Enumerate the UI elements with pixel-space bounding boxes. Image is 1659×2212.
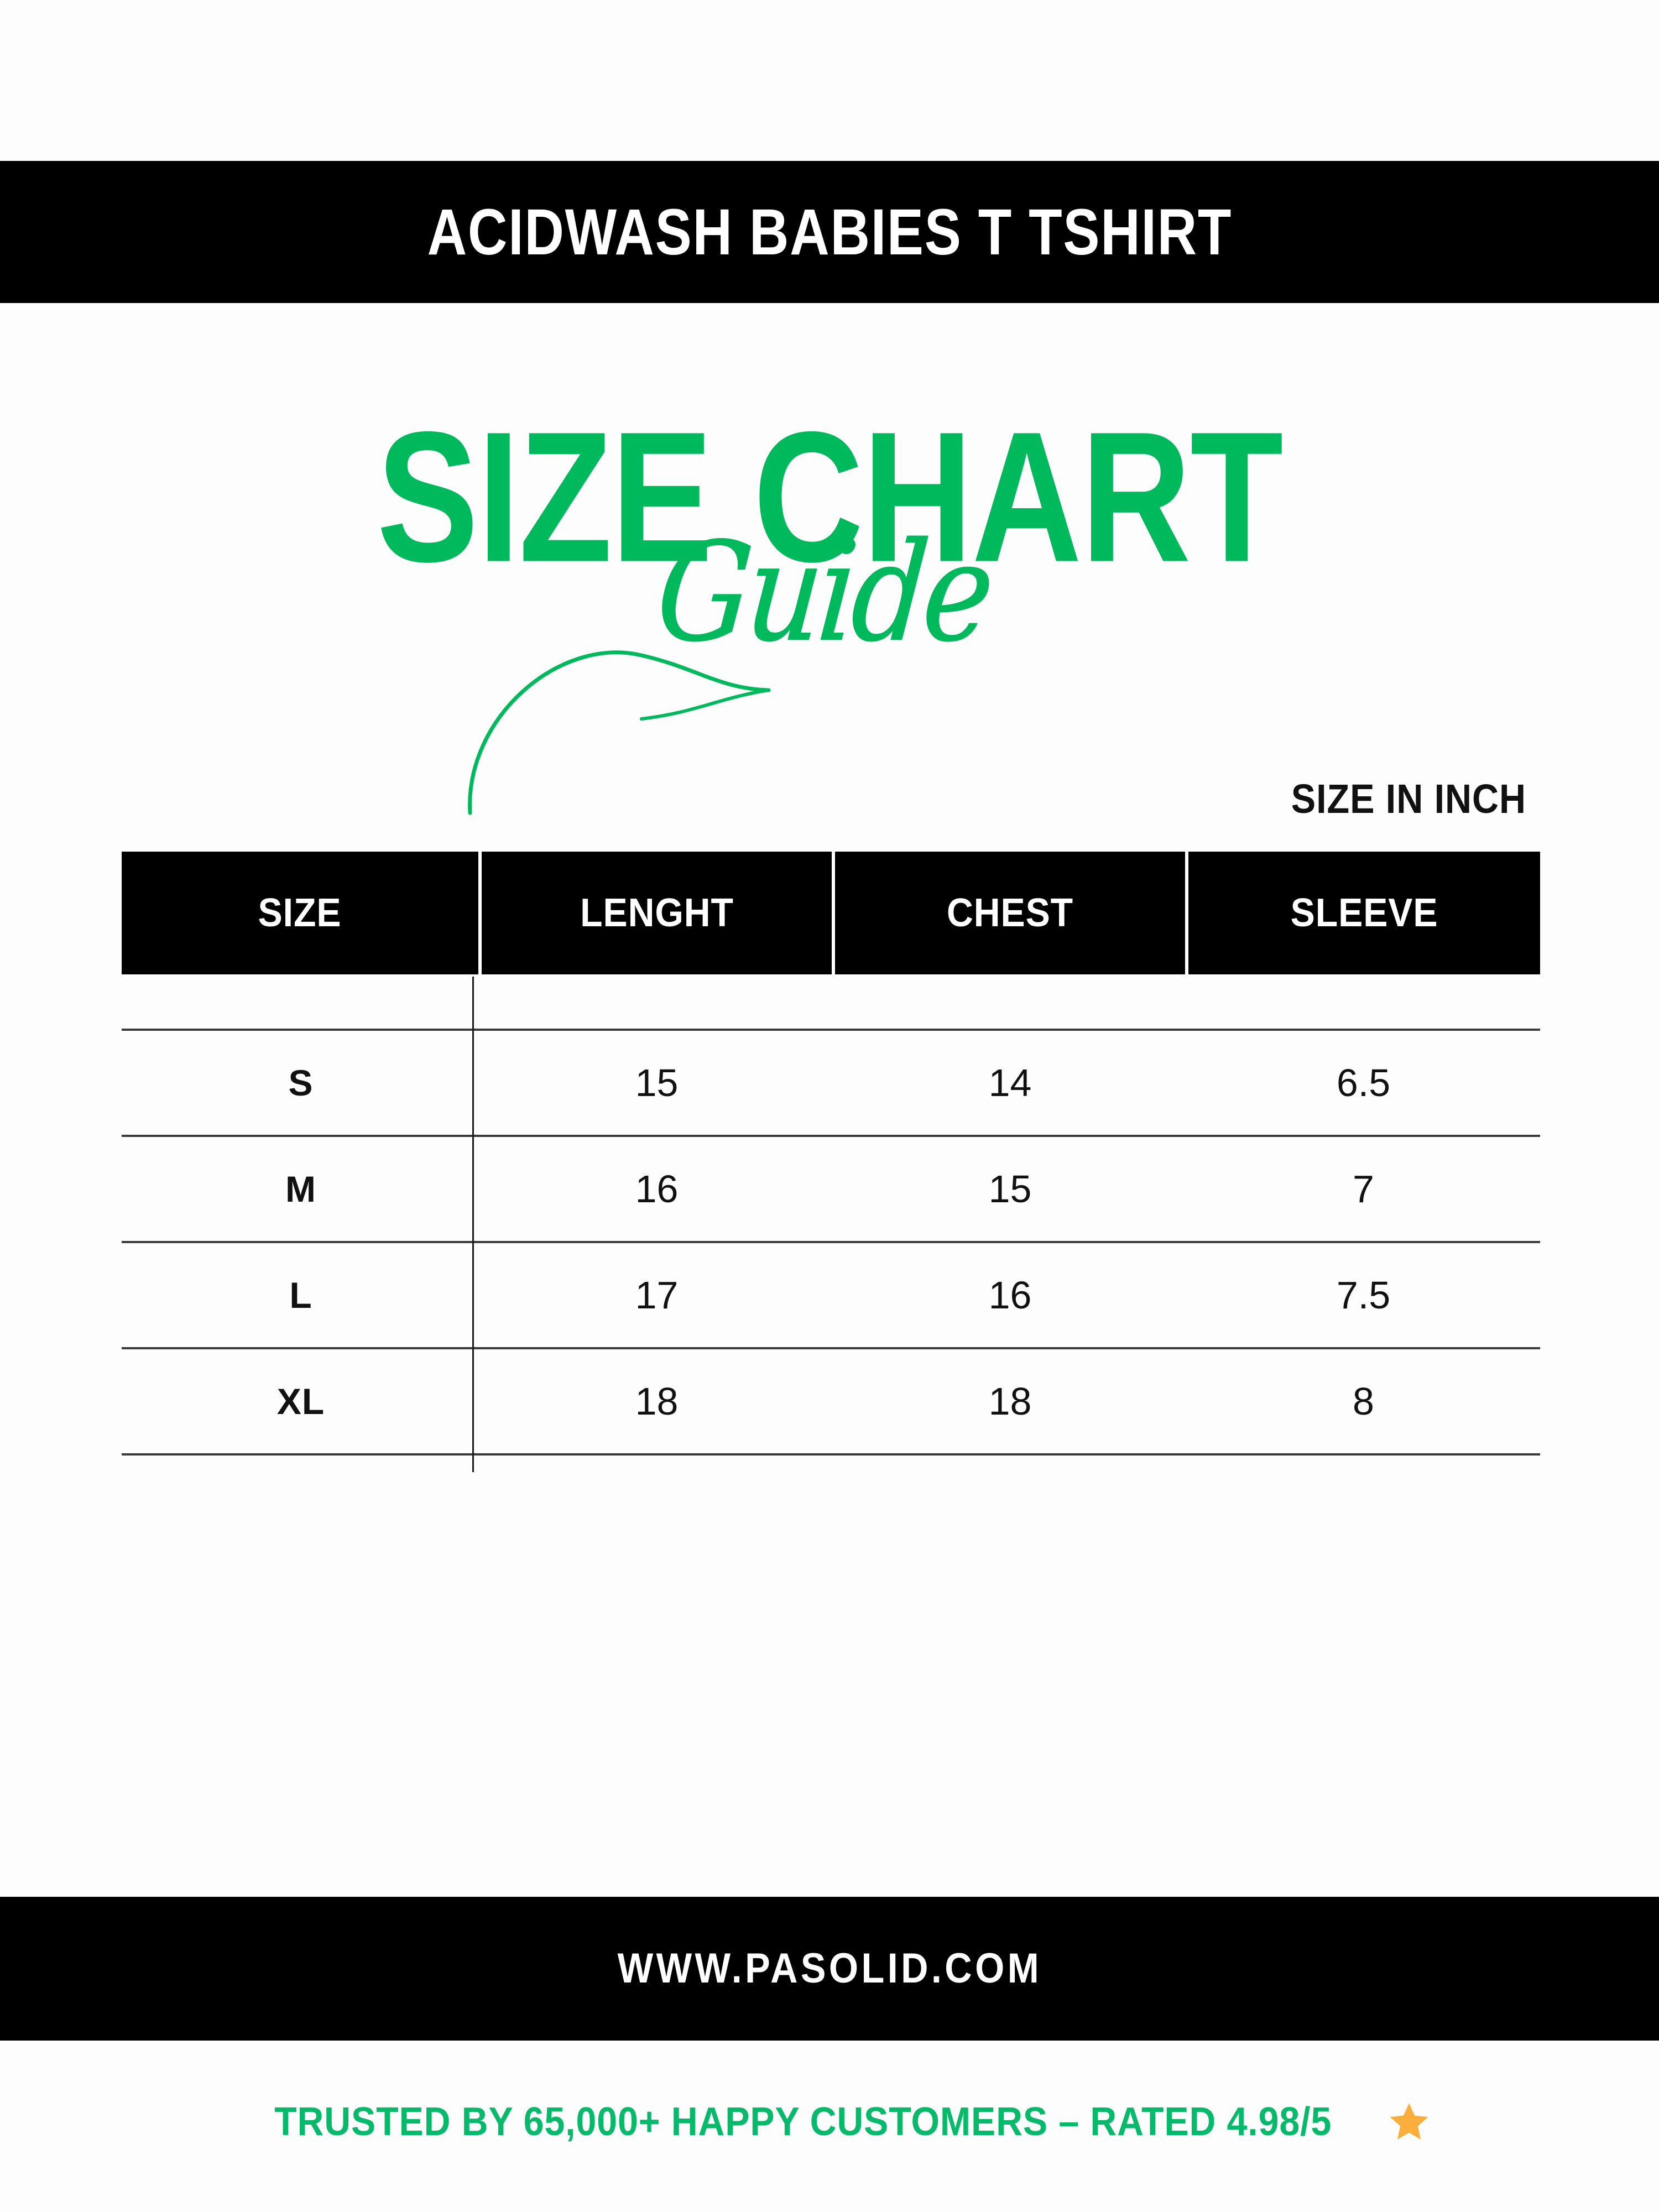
column-header-sleeve-label: SLEEVE [1291, 890, 1438, 936]
table-row: XL 18 18 8 [122, 1348, 1540, 1454]
logo-script-word: Guide [0, 524, 1659, 661]
column-header-lenght: LENGHT [480, 852, 833, 974]
table-spacer-row [122, 974, 1540, 1030]
size-chart-table: SIZE LENGHT CHEST SLEEVE S 15 14 6. [122, 852, 1540, 1455]
table-header-row: SIZE LENGHT CHEST SLEEVE [122, 852, 1540, 974]
cell-chest: 18 [833, 1348, 1187, 1454]
spacer-cell [122, 974, 480, 1030]
cell-chest: 15 [833, 1136, 1187, 1242]
column-header-sleeve: SLEEVE [1187, 852, 1540, 974]
table-vertical-rule [472, 977, 474, 1472]
column-header-size-label: SIZE [258, 890, 342, 936]
column-header-size: SIZE [122, 852, 480, 974]
page-title: ACIDWASH BABIES T TSHIRT [427, 200, 1232, 265]
size-chart-logo: SIZE CHART Guide [0, 387, 1659, 719]
trust-badge-text: TRUSTED BY 65,000+ HAPPY CUSTOMERS – RAT… [274, 2102, 1332, 2142]
cell-size: XL [122, 1348, 480, 1454]
cell-lenght: 15 [480, 1030, 833, 1136]
cell-lenght: 18 [480, 1348, 833, 1454]
cell-sleeve: 6.5 [1187, 1030, 1540, 1136]
cell-sleeve: 7 [1187, 1136, 1540, 1242]
table-row: S 15 14 6.5 [122, 1030, 1540, 1136]
size-chart-table-wrapper: SIZE LENGHT CHEST SLEEVE S 15 14 6. [122, 852, 1540, 1455]
cell-size: L [122, 1242, 480, 1348]
cell-chest: 16 [833, 1242, 1187, 1348]
website-url[interactable]: WWW.PASOLID.COM [617, 1948, 1041, 1990]
table-row: M 16 15 7 [122, 1136, 1540, 1242]
cell-lenght: 16 [480, 1136, 833, 1242]
cell-chest: 14 [833, 1030, 1187, 1136]
column-header-chest: CHEST [833, 852, 1187, 974]
unit-label: SIZE IN INCH [153, 779, 1526, 820]
spacer-cell [1187, 974, 1540, 1030]
table-row: L 17 16 7.5 [122, 1242, 1540, 1348]
column-header-chest-label: CHEST [947, 890, 1073, 936]
cell-lenght: 17 [480, 1242, 833, 1348]
cell-sleeve: 8 [1187, 1348, 1540, 1454]
spacer-cell [480, 974, 833, 1030]
column-header-lenght-label: LENGHT [580, 890, 734, 936]
trust-badge: TRUSTED BY 65,000+ HAPPY CUSTOMERS – RAT… [0, 2100, 1659, 2143]
footer-bar: WWW.PASOLID.COM [0, 1897, 1659, 2041]
star-icon [1387, 2100, 1431, 2143]
spacer-cell [833, 974, 1187, 1030]
cell-size: S [122, 1030, 480, 1136]
cell-sleeve: 7.5 [1187, 1242, 1540, 1348]
product-title-bar: ACIDWASH BABIES T TSHIRT [0, 161, 1659, 303]
size-chart-page: ACIDWASH BABIES T TSHIRT SIZE CHART Guid… [0, 0, 1659, 2212]
cell-size: M [122, 1136, 480, 1242]
